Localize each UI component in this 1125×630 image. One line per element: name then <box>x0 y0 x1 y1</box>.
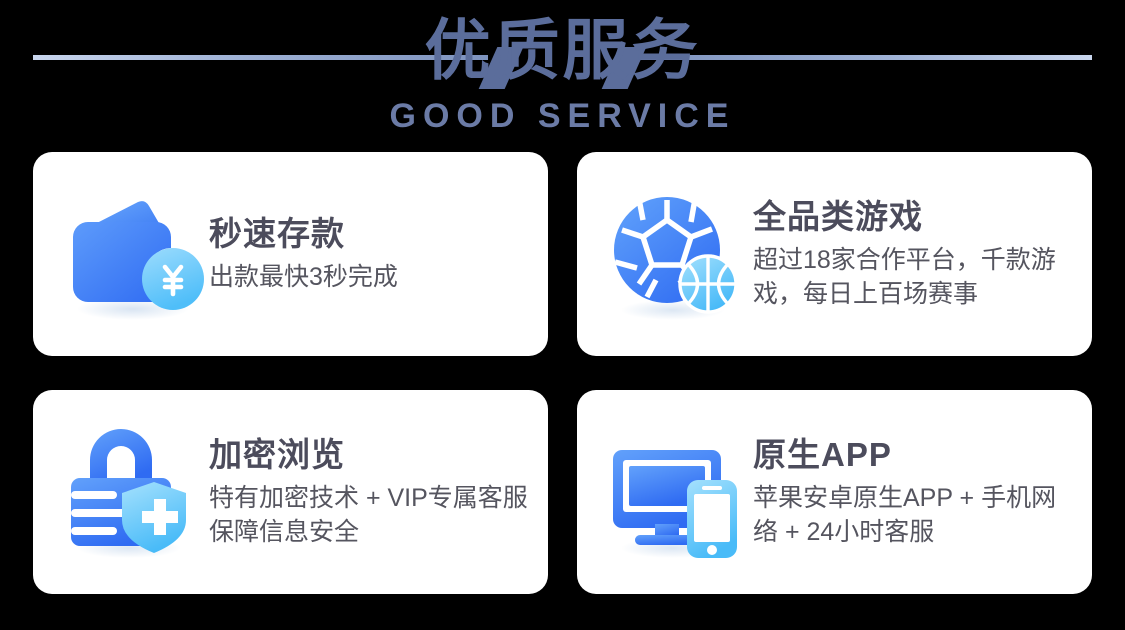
page-subtitle: GOOD SERVICE <box>0 97 1125 135</box>
monitor-phone-icon <box>595 412 755 572</box>
feature-card-grid: 秒速存款 出款最快3秒完成 <box>33 152 1092 594</box>
feature-card-text: 加密浏览 特有加密技术 + VIP专属客服保障信息安全 <box>209 435 548 549</box>
page-title: 优质服务 <box>0 11 1125 89</box>
feature-card-instant-deposit[interactable]: 秒速存款 出款最快3秒完成 <box>33 152 548 356</box>
card-title: 原生APP <box>753 435 1078 475</box>
feature-card-text: 全品类游戏 超过18家合作平台，千款游戏，每日上百场赛事 <box>753 197 1092 311</box>
feature-card-text: 原生APP 苹果安卓原生APP + 手机网络 + 24小时客服 <box>753 435 1092 549</box>
card-description: 特有加密技术 + VIP专属客服保障信息安全 <box>209 481 534 549</box>
wallet-yen-icon <box>51 174 211 334</box>
feature-card-encrypted-browsing[interactable]: 加密浏览 特有加密技术 + VIP专属客服保障信息安全 <box>33 390 548 594</box>
soccer-basketball-icon <box>595 174 755 334</box>
card-title: 全品类游戏 <box>753 197 1078 237</box>
card-description: 出款最快3秒完成 <box>209 260 534 294</box>
promo-banner: 优质服务 GOOD SERVICE <box>0 0 1125 630</box>
banner-header: 优质服务 GOOD SERVICE <box>0 0 1125 146</box>
feature-card-text: 秒速存款 出款最快3秒完成 <box>209 214 548 294</box>
card-title: 加密浏览 <box>209 435 534 475</box>
card-description: 超过18家合作平台，千款游戏，每日上百场赛事 <box>753 243 1078 311</box>
feature-card-native-app[interactable]: 原生APP 苹果安卓原生APP + 手机网络 + 24小时客服 <box>577 390 1092 594</box>
feature-card-all-games[interactable]: 全品类游戏 超过18家合作平台，千款游戏，每日上百场赛事 <box>577 152 1092 356</box>
card-title: 秒速存款 <box>209 214 534 254</box>
card-description: 苹果安卓原生APP + 手机网络 + 24小时客服 <box>753 481 1078 549</box>
lock-shield-icon <box>51 412 211 572</box>
